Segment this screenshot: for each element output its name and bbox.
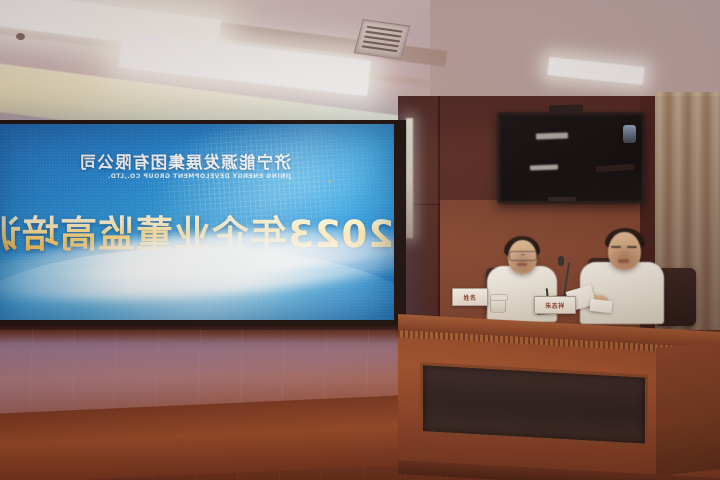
tv-mount-bracket — [549, 104, 583, 113]
cup-lid — [490, 294, 508, 301]
screen-vignette — [0, 124, 394, 320]
led-screen: 济宁能源发展集团有限公司 JINING ENERGY DEVELOPMENT G… — [0, 124, 394, 320]
tv-reflection — [536, 132, 568, 139]
person-right-brow — [627, 246, 637, 248]
led-screen-frame: 济宁能源发展集团有限公司 JINING ENERGY DEVELOPMENT G… — [0, 120, 406, 335]
podium-side-face — [656, 341, 720, 476]
podium-dark-inset-panel — [420, 362, 648, 447]
person-right-brow — [611, 246, 621, 248]
podium — [398, 310, 720, 480]
tv-reflection — [530, 165, 558, 171]
square-ceiling-vent-icon — [354, 19, 411, 60]
microphone-head — [558, 256, 564, 266]
name-placard-left: 姓名 — [452, 288, 488, 306]
photo-scene: 济宁能源发展集团有限公司 JINING ENERGY DEVELOPMENT G… — [0, 0, 720, 480]
tv-base — [548, 197, 576, 201]
wall-speaker-icon — [623, 125, 636, 143]
person-left-mouth — [517, 263, 527, 266]
vertical-light-strip — [406, 118, 413, 238]
person-right-mouth — [618, 259, 629, 263]
eyeglasses-icon — [509, 251, 537, 261]
